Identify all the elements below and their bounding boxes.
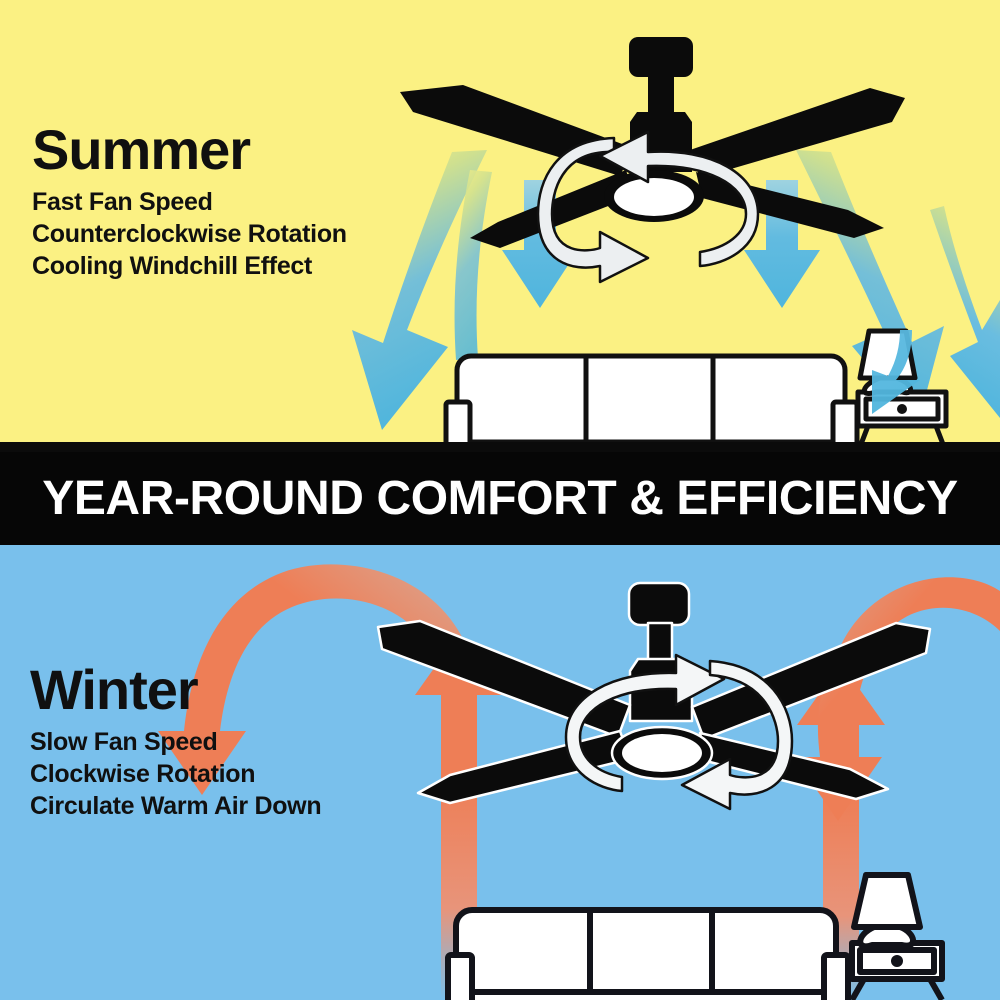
winter-line-1: Slow Fan Speed [30,726,321,758]
summer-line-1: Fast Fan Speed [32,186,347,218]
summer-arrow-over-lamp [872,330,920,414]
banner-title: YEAR-ROUND COMFORT & EFFICIENCY [42,471,958,526]
summer-floor-line [0,442,1000,452]
winter-line-2: Clockwise Rotation [30,758,321,790]
summer-line-2: Counterclockwise Rotation [32,218,347,250]
summer-title: Summer [32,122,347,178]
summer-panel: Summer Fast Fan Speed Counterclockwise R… [0,0,1000,452]
winter-panel: Winter Slow Fan Speed Clockwise Rotation… [0,545,1000,1000]
infographic-poster: Summer Fast Fan Speed Counterclockwise R… [0,0,1000,1000]
winter-line-3: Circulate Warm Air Down [30,790,321,822]
winter-text-block: Winter Slow Fan Speed Clockwise Rotation… [30,662,321,822]
summer-text-block: Summer Fast Fan Speed Counterclockwise R… [32,122,347,282]
winter-title: Winter [30,662,321,718]
banner: YEAR-ROUND COMFORT & EFFICIENCY [0,452,1000,545]
summer-line-3: Cooling Windchill Effect [32,250,347,282]
